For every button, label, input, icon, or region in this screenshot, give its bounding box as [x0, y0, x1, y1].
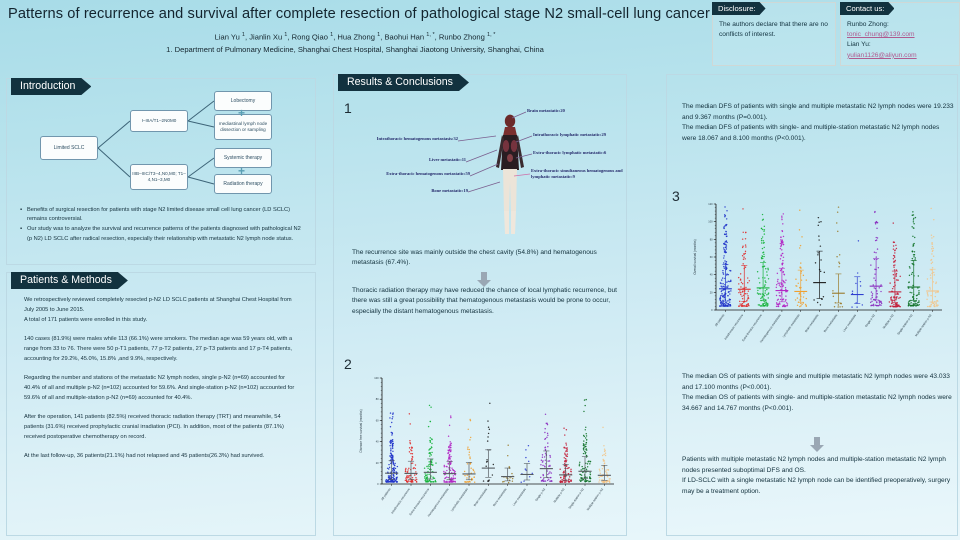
data-point: [389, 445, 390, 446]
data-point: [745, 258, 746, 259]
data-point: [860, 285, 861, 286]
data-point: [589, 476, 590, 477]
data-point: [566, 447, 567, 448]
data-point: [430, 437, 431, 438]
data-point: [911, 305, 912, 306]
data-point: [913, 221, 914, 222]
data-point: [545, 438, 546, 439]
data-point: [871, 301, 872, 302]
data-point: [729, 281, 730, 282]
data-point: [590, 461, 591, 462]
data-point: [405, 468, 406, 469]
data-point: [722, 270, 723, 271]
data-point: [763, 301, 764, 302]
data-point: [569, 476, 570, 477]
data-point: [927, 295, 928, 296]
data-point: [893, 304, 894, 305]
data-point: [763, 261, 764, 262]
data-point: [927, 294, 928, 295]
data-point: [725, 302, 726, 303]
data-point: [547, 470, 548, 471]
data-point: [469, 449, 470, 450]
data-point: [472, 469, 473, 470]
data-point: [435, 462, 436, 463]
data-point: [918, 290, 919, 291]
data-point: [579, 465, 580, 466]
data-point: [416, 479, 417, 480]
data-point: [911, 274, 912, 275]
data-point: [913, 256, 914, 257]
data-point: [743, 259, 744, 260]
data-point: [432, 464, 433, 465]
svg-text:0: 0: [711, 308, 713, 312]
data-point: [872, 293, 873, 294]
data-point: [742, 291, 743, 292]
data-point: [725, 244, 726, 245]
data-point: [388, 464, 389, 465]
data-point: [805, 304, 806, 305]
data-point: [448, 463, 449, 464]
data-point: [873, 304, 874, 305]
data-point: [930, 305, 931, 306]
data-point: [565, 461, 566, 462]
data-point: [390, 455, 391, 456]
data-point: [879, 300, 880, 301]
data-point: [880, 301, 881, 302]
data-point: [931, 242, 932, 243]
data-point: [874, 211, 875, 212]
data-point: [875, 222, 876, 223]
data-point: [507, 455, 508, 456]
data-point: [564, 434, 565, 435]
data-point: [748, 303, 749, 304]
data-point: [767, 269, 768, 270]
data-point: [393, 462, 394, 463]
data-point: [428, 474, 429, 475]
data-point: [581, 479, 582, 480]
data-point: [390, 440, 391, 441]
data-point: [896, 297, 897, 298]
data-point: [780, 255, 781, 256]
data-point: [429, 405, 430, 406]
x-axis-tick-label: Multiple-station p-N2: [914, 313, 933, 337]
data-point: [720, 297, 721, 298]
data-point: [820, 304, 821, 305]
data-point: [898, 298, 899, 299]
x-axis-tick-label: Intrathoracic recurrence: [390, 487, 411, 515]
data-point: [742, 283, 743, 284]
data-point: [842, 306, 843, 307]
x-axis-tick-label: Lymphatic metastasis: [450, 487, 469, 512]
data-point: [856, 306, 857, 307]
data-point: [833, 296, 834, 297]
data-point: [444, 478, 445, 479]
patients-methods-body: We retrospectively reviewed completely r…: [24, 296, 302, 471]
results-summary-text-2: Thoracic radiation therapy may have redu…: [352, 286, 620, 317]
data-point: [726, 261, 727, 262]
data-point: [890, 298, 891, 299]
data-point: [889, 282, 890, 283]
data-point: [570, 480, 571, 481]
data-point: [738, 292, 739, 293]
data-point: [909, 267, 910, 268]
data-point: [912, 297, 913, 298]
data-point: [392, 412, 393, 413]
data-point: [724, 296, 725, 297]
data-point: [393, 467, 394, 468]
data-point: [927, 306, 928, 307]
data-point: [765, 280, 766, 281]
data-point: [581, 466, 582, 467]
data-point: [726, 248, 727, 249]
data-point: [918, 275, 919, 276]
data-point: [726, 281, 727, 282]
data-point: [742, 298, 743, 299]
data-point: [559, 469, 560, 470]
data-point: [730, 290, 731, 291]
down-arrow-icon: [810, 437, 824, 452]
data-point: [565, 443, 566, 444]
data-point: [913, 214, 914, 215]
data-point: [586, 439, 587, 440]
data-point: [547, 442, 548, 443]
data-point: [394, 470, 395, 471]
data-point: [742, 247, 743, 248]
data-point: [795, 285, 796, 286]
conclusion-text: Patients with multiple metastatic N2 lym…: [682, 455, 954, 497]
data-point: [488, 433, 489, 434]
data-point: [787, 303, 788, 304]
data-point: [778, 292, 779, 293]
data-point: [782, 272, 783, 273]
data-point: [470, 463, 471, 464]
data-point: [776, 295, 777, 296]
data-point: [799, 210, 800, 211]
data-point: [411, 459, 412, 460]
data-point: [428, 465, 429, 466]
data-point: [806, 279, 807, 280]
data-point: [608, 469, 609, 470]
data-point: [503, 481, 504, 482]
data-point: [564, 453, 565, 454]
data-point: [723, 303, 724, 304]
data-point: [721, 290, 722, 291]
svg-text:20: 20: [376, 461, 379, 465]
data-point: [786, 302, 787, 303]
data-point: [728, 291, 729, 292]
data-point: [918, 292, 919, 293]
data-point: [912, 258, 913, 259]
data-point: [566, 444, 567, 445]
data-point: [781, 239, 782, 240]
data-point: [780, 246, 781, 247]
data-point: [803, 292, 804, 293]
data-point: [585, 427, 586, 428]
data-point: [894, 257, 895, 258]
data-point: [444, 466, 445, 467]
data-point: [781, 241, 782, 242]
data-point: [587, 461, 588, 462]
svg-text:80: 80: [376, 397, 379, 401]
data-point: [931, 263, 932, 264]
data-point: [486, 461, 487, 462]
data-point: [763, 230, 764, 231]
x-axis-tick-label: Multiple p-N2: [552, 487, 565, 504]
data-point: [914, 237, 915, 238]
contact-person-2-email[interactable]: yulian1126@aliyun.com: [847, 51, 955, 61]
data-point: [911, 288, 912, 289]
data-point: [431, 438, 432, 439]
figure-3-os-scatter-chart: 020406080100120Overall survival (months)…: [686, 198, 948, 358]
plus-icon: +: [238, 109, 245, 117]
data-point: [449, 457, 450, 458]
data-point: [395, 480, 396, 481]
data-point: [450, 470, 451, 471]
data-point: [914, 254, 915, 255]
data-point: [542, 460, 543, 461]
metastasis-label: Bone metastatic:19: [340, 188, 468, 194]
data-point: [893, 261, 894, 262]
data-point: [566, 429, 567, 430]
data-point: [762, 229, 763, 230]
data-point: [763, 240, 764, 241]
data-point: [742, 238, 743, 239]
data-point: [410, 423, 411, 424]
data-point: [424, 473, 425, 474]
data-point: [724, 206, 725, 207]
data-point: [763, 254, 764, 255]
data-point: [409, 447, 410, 448]
data-point: [893, 306, 894, 307]
data-point: [880, 284, 881, 285]
data-point: [912, 272, 913, 273]
data-point: [549, 460, 550, 461]
data-point: [511, 473, 512, 474]
data-point: [721, 293, 722, 294]
data-point: [742, 208, 743, 209]
data-point: [763, 303, 764, 304]
data-point: [392, 443, 393, 444]
data-point: [562, 481, 563, 482]
data-point: [779, 302, 780, 303]
data-point: [898, 293, 899, 294]
data-point: [930, 295, 931, 296]
data-point: [599, 470, 600, 471]
x-axis-tick-label: Intrathoracic recurrence: [723, 313, 744, 341]
data-point: [746, 304, 747, 305]
data-point: [386, 481, 387, 482]
data-point: [605, 453, 606, 454]
data-point: [391, 432, 392, 433]
data-point: [470, 420, 471, 421]
data-point: [725, 252, 726, 253]
data-point: [782, 260, 783, 261]
data-point: [914, 304, 915, 305]
data-point: [722, 277, 723, 278]
data-point: [406, 477, 407, 478]
data-point: [803, 296, 804, 297]
data-point: [838, 266, 839, 267]
data-point: [392, 457, 393, 458]
x-axis-tick-label: Brain metastasis: [804, 313, 820, 333]
data-point: [823, 296, 824, 297]
list-item: ▪ Our study was to analyze the survival …: [15, 225, 305, 243]
data-point: [464, 471, 465, 472]
data-point: [605, 469, 606, 470]
data-point: [393, 475, 394, 476]
data-point: [523, 480, 524, 481]
svg-text:60: 60: [376, 418, 379, 422]
data-point: [412, 477, 413, 478]
data-point: [453, 470, 454, 471]
data-point: [896, 273, 897, 274]
data-point: [604, 448, 605, 449]
x-axis-tick-label: Multiple-station p-N2: [586, 487, 605, 511]
data-point: [909, 292, 910, 293]
data-point: [933, 236, 934, 237]
data-point: [582, 468, 583, 469]
data-point: [589, 481, 590, 482]
data-point: [387, 479, 388, 480]
data-point: [748, 297, 749, 298]
data-point: [566, 451, 567, 452]
data-point: [780, 270, 781, 271]
data-point: [408, 475, 409, 476]
data-point: [739, 301, 740, 302]
data-point: [563, 477, 564, 478]
data-point: [747, 295, 748, 296]
data-point: [860, 281, 861, 282]
data-point: [424, 476, 425, 477]
data-point: [739, 290, 740, 291]
data-point: [892, 300, 893, 301]
data-point: [911, 226, 912, 227]
data-point: [932, 243, 933, 244]
data-point: [783, 281, 784, 282]
data-point: [724, 267, 725, 268]
metastasis-label: Extra-thoracic hematogenous metastatic:5…: [340, 171, 470, 177]
data-point: [549, 480, 550, 481]
data-point: [768, 278, 769, 279]
data-point: [785, 295, 786, 296]
data-point: [723, 247, 724, 248]
data-point: [394, 463, 395, 464]
data-point: [551, 480, 552, 481]
data-point: [394, 465, 395, 466]
data-point: [525, 470, 526, 471]
data-point: [392, 445, 393, 446]
data-point: [583, 411, 584, 412]
data-point: [549, 471, 550, 472]
data-point: [838, 304, 839, 305]
data-point: [763, 256, 764, 257]
data-point: [894, 269, 895, 270]
data-point: [730, 280, 731, 281]
svg-text:20: 20: [710, 290, 713, 294]
data-point: [391, 422, 392, 423]
data-point: [507, 445, 508, 446]
data-point: [520, 482, 521, 483]
data-point: [800, 305, 801, 306]
data-point: [410, 449, 411, 450]
data-point: [877, 293, 878, 294]
data-point: [467, 475, 468, 476]
data-point: [795, 279, 796, 280]
data-point: [937, 304, 938, 305]
data-point: [391, 418, 392, 419]
data-point: [781, 219, 782, 220]
data-point: [585, 452, 586, 453]
data-point: [546, 437, 547, 438]
data-point: [585, 480, 586, 481]
list-item-label: Benefits of surgical resection for patie…: [27, 206, 305, 224]
data-point: [767, 305, 768, 306]
data-point: [767, 268, 768, 269]
dfs-result-text: The median DFS of patients with single a…: [682, 102, 954, 144]
data-point: [929, 287, 930, 288]
data-point: [741, 295, 742, 296]
contact-person-1-email[interactable]: tonic_chung@139.com: [847, 30, 955, 40]
data-point: [782, 223, 783, 224]
data-point: [783, 236, 784, 237]
data-point: [799, 306, 800, 307]
data-point: [725, 305, 726, 306]
data-point: [913, 218, 914, 219]
data-point: [600, 473, 601, 474]
data-point: [817, 252, 818, 253]
metastasis-label: Intrathoracic hematogenous metastasis:32: [340, 136, 458, 142]
data-point: [448, 436, 449, 437]
data-point: [726, 210, 727, 211]
data-point: [509, 477, 510, 478]
data-point: [589, 472, 590, 473]
svg-text:120: 120: [708, 202, 713, 206]
data-point: [720, 305, 721, 306]
data-point: [761, 255, 762, 256]
data-point: [392, 451, 393, 452]
data-point: [473, 477, 474, 478]
data-point: [764, 303, 765, 304]
data-point: [759, 282, 760, 283]
contact-person-2-name: Lian Yu:: [847, 40, 955, 50]
data-point: [430, 421, 431, 422]
data-point: [900, 306, 901, 307]
data-point: [876, 302, 877, 303]
data-point: [916, 298, 917, 299]
data-point: [450, 480, 451, 481]
data-point: [467, 446, 468, 447]
data-point: [782, 253, 783, 254]
data-point: [587, 480, 588, 481]
data-point: [931, 235, 932, 236]
data-point: [545, 414, 546, 415]
data-point: [909, 300, 910, 301]
data-point: [798, 293, 799, 294]
data-point: [405, 471, 406, 472]
data-point: [542, 474, 543, 475]
data-point: [446, 466, 447, 467]
data-point: [896, 275, 897, 276]
data-point: [409, 478, 410, 479]
data-point: [565, 450, 566, 451]
data-point: [780, 299, 781, 300]
data-point: [908, 305, 909, 306]
data-point: [785, 287, 786, 288]
data-point: [724, 250, 725, 251]
data-point: [746, 306, 747, 307]
data-point: [894, 255, 895, 256]
data-point: [725, 263, 726, 264]
